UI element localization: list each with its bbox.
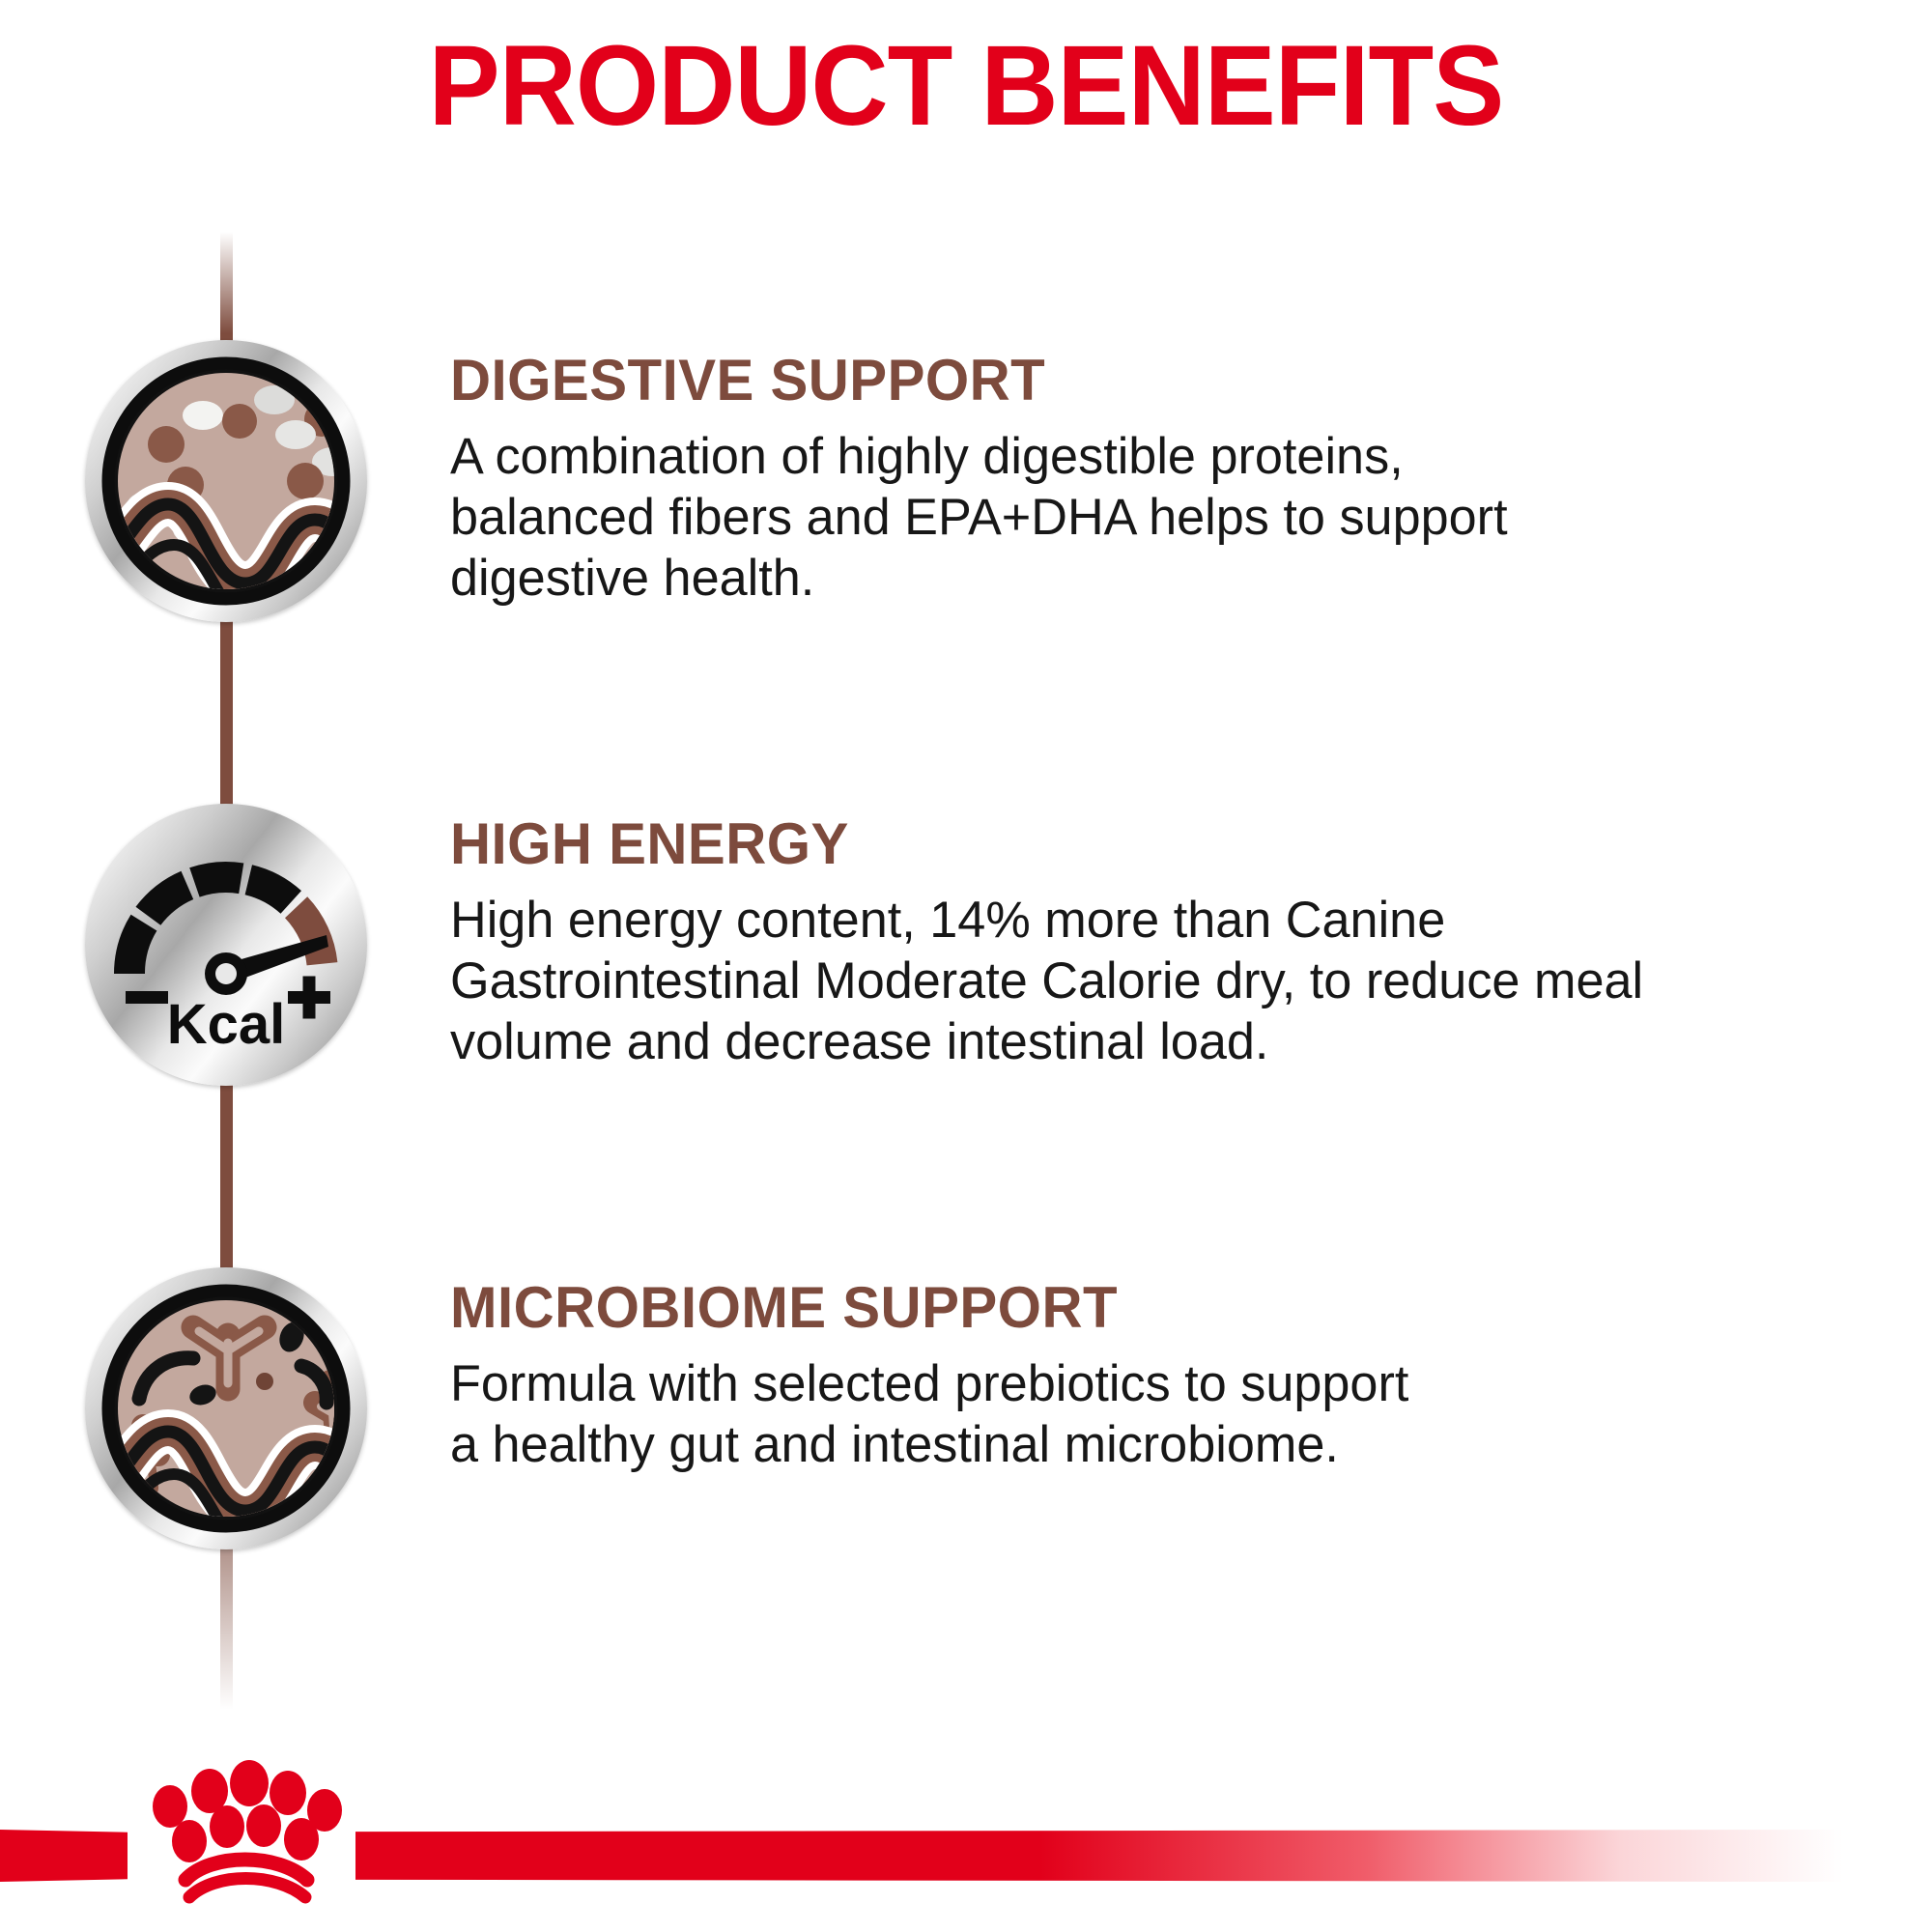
- benefit-text-high-energy: HIGH ENERGY High energy content, 14% mor…: [450, 804, 1822, 1072]
- benefit-heading: MICROBIOME SUPPORT: [450, 1279, 1780, 1337]
- benefit-body-line: Formula with selected prebiotics to supp…: [450, 1353, 1802, 1414]
- benefit-body-line: digestive health.: [450, 548, 1802, 609]
- benefit-body: Formula with selected prebiotics to supp…: [450, 1353, 1802, 1475]
- benefit-text-digestive-support: DIGESTIVE SUPPORT A combination of highl…: [450, 340, 1822, 609]
- benefit-body-line: volume and decrease intestinal load.: [450, 1011, 1802, 1072]
- benefit-row-microbiome-support: MICROBIOME SUPPORT Formula with selected…: [0, 1267, 1932, 1557]
- benefit-body-line: a healthy gut and intestinal microbiome.: [450, 1414, 1802, 1475]
- benefit-body-line: High energy content, 14% more than Canin…: [450, 890, 1802, 951]
- benefit-row-high-energy: Kcal HIGH ENERGY High energy content, 14…: [0, 804, 1932, 1094]
- benefit-text-microbiome-support: MICROBIOME SUPPORT Formula with selected…: [450, 1267, 1822, 1475]
- high-energy-icon: Kcal: [85, 804, 367, 1086]
- benefit-heading: DIGESTIVE SUPPORT: [450, 352, 1780, 410]
- digestive-support-icon: [85, 340, 367, 622]
- footer-red-bar-right: [355, 1830, 1843, 1882]
- benefit-body-line: A combination of highly digestible prote…: [450, 426, 1802, 487]
- gauge-kcal-label: Kcal: [167, 993, 286, 1056]
- benefit-row-digestive-support: DIGESTIVE SUPPORT A combination of highl…: [0, 340, 1932, 630]
- benefit-body-line: Gastrointestinal Moderate Calorie dry, t…: [450, 951, 1802, 1011]
- benefit-body: A combination of highly digestible prote…: [450, 426, 1802, 609]
- benefit-heading: HIGH ENERGY: [450, 815, 1780, 873]
- benefit-body: High energy content, 14% more than Canin…: [450, 890, 1802, 1072]
- microbiome-support-icon: [85, 1267, 367, 1549]
- page-title: PRODUCT BENEFITS: [58, 27, 1874, 147]
- benefit-body-line: balanced fibers and EPA+DHA helps to sup…: [450, 487, 1802, 548]
- footer-red-bar-left: [0, 1830, 128, 1882]
- royal-canin-crown-logo: [126, 1756, 357, 1911]
- footer: [0, 1739, 1932, 1932]
- product-benefits-page: PRODUCT BENEFITS: [0, 0, 1932, 1932]
